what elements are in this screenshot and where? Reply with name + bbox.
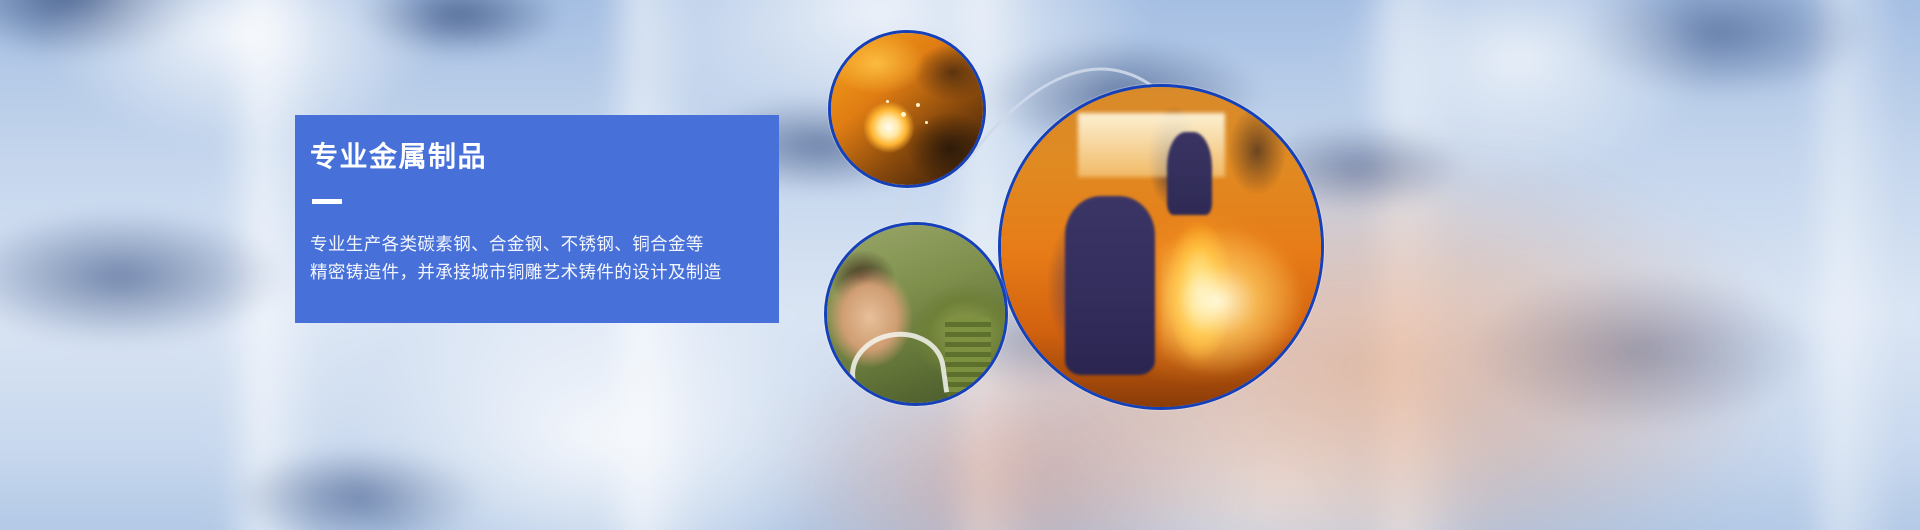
foundry-pour-photo[interactable] [998,84,1324,410]
banner-description-line-1: 专业生产各类碳素钢、合金钢、不锈钢、铜合金等 [310,230,779,258]
title-divider [312,199,342,204]
hero-banner: 专业金属制品 专业生产各类碳素钢、合金钢、不锈钢、铜合金等 精密铸造件，并承接城… [0,0,1920,530]
banner-description-line-2: 精密铸造件，并承接城市铜雕艺术铸件的设计及制造 [310,258,779,286]
metal-components-stack [945,317,991,397]
spark-particle-icon [886,100,889,103]
spark-particle-icon [916,103,920,107]
molten-metal-glow [1161,228,1302,375]
banner-title: 专业金属制品 [310,142,779,173]
inspection-worker-photo[interactable] [824,222,1008,406]
banner-text-inner: 专业金属制品 专业生产各类碳素钢、合金钢、不锈钢、铜合金等 精密铸造件，并承接城… [295,115,779,286]
banner-description: 专业生产各类碳素钢、合金钢、不锈钢、铜合金等 精密铸造件，并承接城市铜雕艺术铸件… [310,230,779,287]
foundry-worker-background [1167,132,1212,215]
photo-collage [810,0,1370,530]
welding-sparks-photo[interactable] [828,30,986,188]
banner-text-panel: 专业金属制品 专业生产各类碳素钢、合金钢、不锈钢、铜合金等 精密铸造件，并承接城… [295,115,779,323]
foundry-worker-foreground [1065,196,1155,375]
welding-sparks-image [831,33,983,185]
spark-particle-icon [901,112,906,117]
